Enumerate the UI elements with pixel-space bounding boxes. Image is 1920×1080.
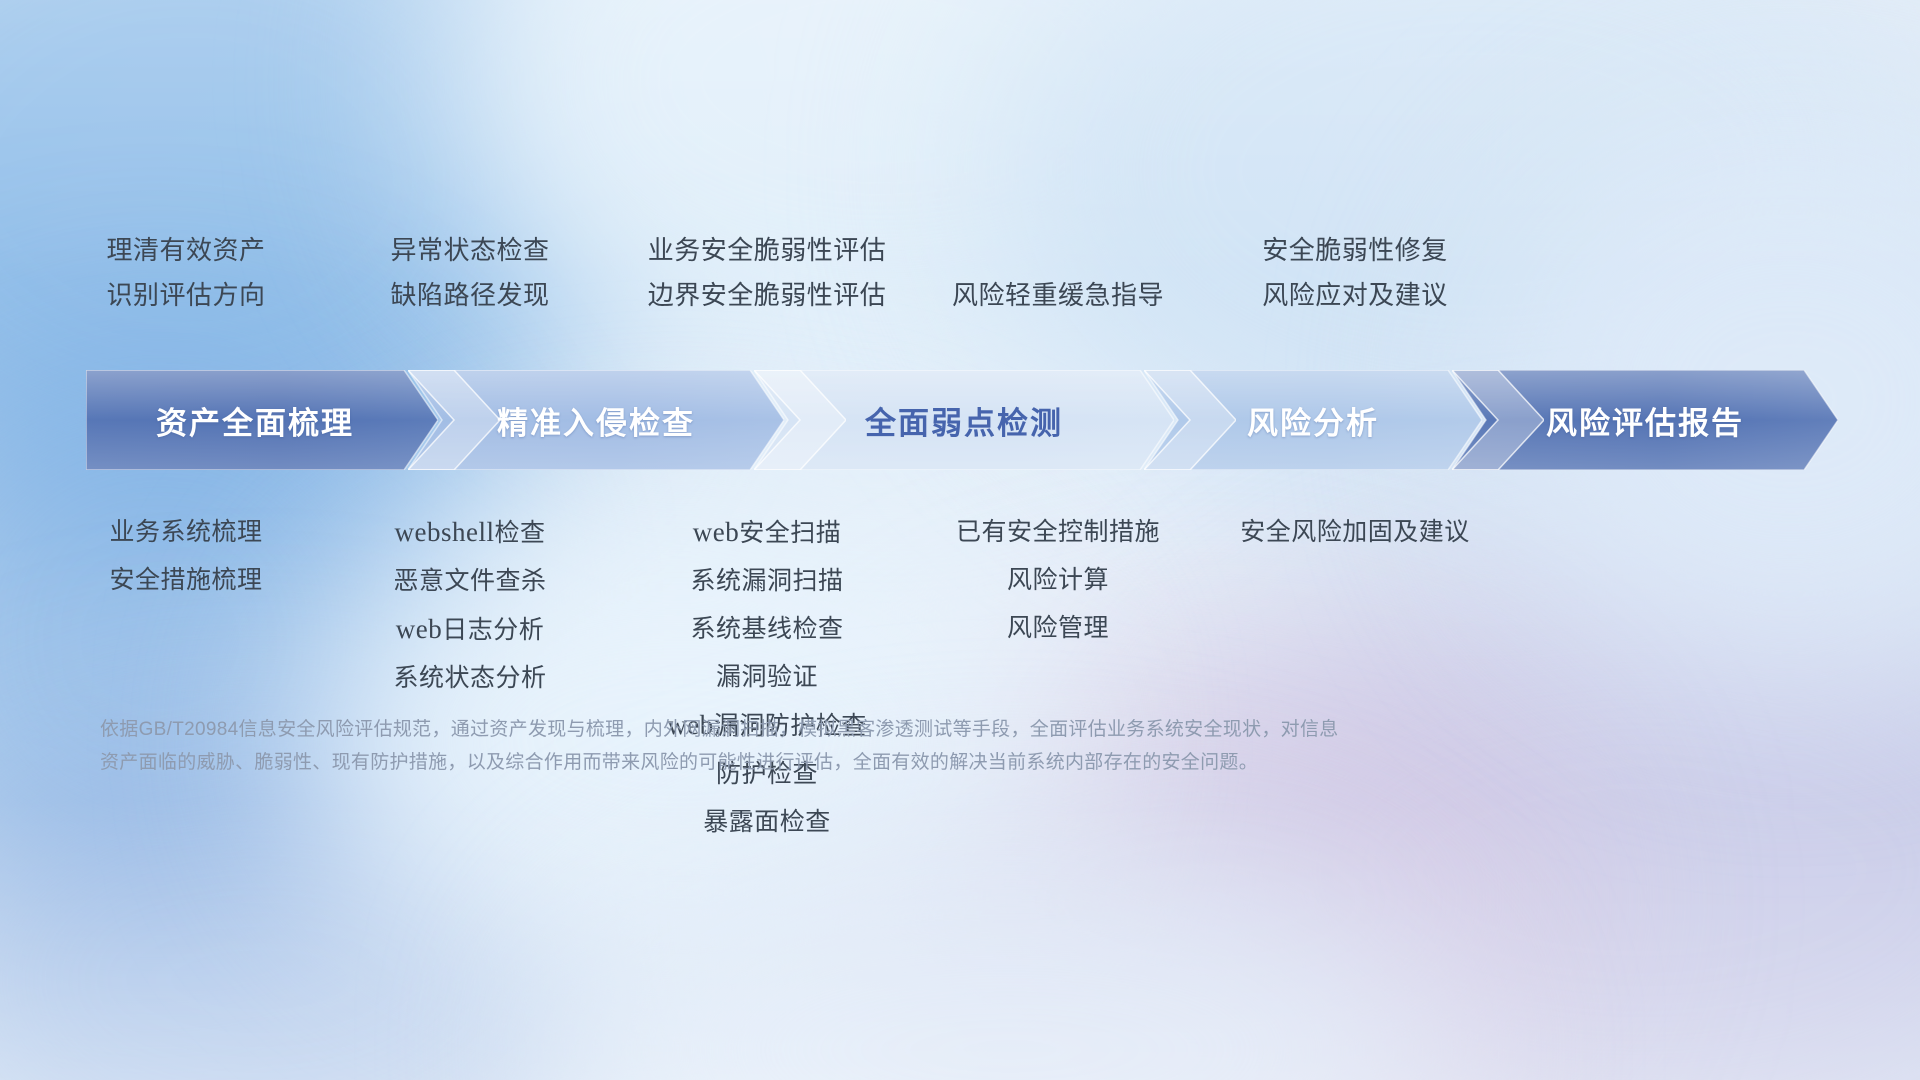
stage-bottom-text-risk-analysis: 已有安全控制措施风险计算风险管理	[888, 508, 1228, 652]
stage-text-line: web安全扫描	[597, 508, 937, 557]
stage-text-latin: web	[693, 517, 739, 547]
stage-text-cjk: 安全扫描	[739, 519, 841, 547]
process-arrow-band: 资产全面梳理精准入侵检查全面弱点检测风险分析风险评估报告	[86, 370, 1838, 470]
stage-text-line: 暴露面检查	[597, 798, 937, 846]
process-stage-label: 风险评估报告	[1546, 398, 1744, 443]
process-stage-asset-inventory[interactable]: 资产全面梳理	[86, 370, 438, 470]
footer-line-1: 依据GB/T20984信息安全风险评估规范，通过资产发现与梳理，内外网漏洞扫描，…	[100, 713, 1620, 746]
stage-text-line: 业务安全脆弱性评估	[597, 228, 937, 273]
process-stage-label: 风险分析	[1247, 398, 1379, 443]
stage-text-line: 异常状态检查	[300, 228, 640, 273]
stage-text-line: 恶意文件查杀	[300, 557, 640, 605]
process-stage-label: 精准入侵检查	[497, 398, 695, 443]
stage-top-text-risk-report: 安全脆弱性修复风险应对及建议	[1185, 228, 1525, 318]
stage-text-line: 安全脆弱性修复	[1185, 228, 1525, 273]
stage-top-text-intrusion-check: 异常状态检查缺陷路径发现	[300, 228, 640, 318]
stage-bottom-text-intrusion-check: webshell检查恶意文件查杀web日志分析系统状态分析	[300, 508, 640, 702]
stage-bottom-text-weakness-detection: web安全扫描系统漏洞扫描系统基线检查漏洞验证web漏洞防护检查防护检查暴露面检…	[597, 508, 937, 846]
stage-text-latin: web	[396, 614, 442, 644]
stage-text-line: webshell检查	[300, 508, 640, 557]
stage-text-line: 系统漏洞扫描	[597, 557, 937, 605]
process-stage-label: 全面弱点检测	[865, 398, 1063, 443]
stage-text-cjk: 日志分析	[442, 616, 544, 644]
stage-text-line: 风险轻重缓急指导	[888, 273, 1228, 318]
stage-text-line: 系统基线检查	[597, 605, 937, 653]
stage-text-line: web日志分析	[300, 605, 640, 654]
stage-text-latin: webshell	[395, 517, 495, 547]
stage-text-cjk: 检查	[494, 519, 545, 547]
stage-text-line: 缺陷路径发现	[300, 273, 640, 318]
stage-text-line: 边界安全脆弱性评估	[597, 273, 937, 318]
process-diagram: 理清有效资产识别评估方向 异常状态检查缺陷路径发现 业务安全脆弱性评估边界安全脆…	[0, 0, 1920, 1080]
stage-text-line: 已有安全控制措施	[888, 508, 1228, 556]
process-stage-weakness-detection[interactable]: 全面弱点检测	[754, 370, 1174, 470]
stage-text-line: 漏洞验证	[597, 653, 937, 701]
process-stage-label: 资产全面梳理	[156, 398, 354, 443]
process-stage-risk-analysis[interactable]: 风险分析	[1144, 370, 1482, 470]
process-stage-intrusion-check[interactable]: 精准入侵检查	[408, 370, 784, 470]
process-stage-risk-report[interactable]: 风险评估报告	[1452, 370, 1838, 470]
stage-text-line: 风险计算	[888, 556, 1228, 604]
stage-top-text-risk-analysis: 风险轻重缓急指导	[888, 273, 1228, 318]
stage-text-line: 风险应对及建议	[1185, 273, 1525, 318]
stage-bottom-text-risk-report: 安全风险加固及建议	[1185, 508, 1525, 556]
footer-line-2: 资产面临的威胁、脆弱性、现有防护措施，以及综合作用而带来风险的可能性进行评估，全…	[100, 746, 1620, 779]
stage-text-line: 风险管理	[888, 604, 1228, 652]
stage-top-text-weakness-detection: 业务安全脆弱性评估边界安全脆弱性评估	[597, 228, 937, 318]
stage-text-line: 系统状态分析	[300, 654, 640, 702]
stage-text-line: 安全风险加固及建议	[1185, 508, 1525, 556]
footer-description: 依据GB/T20984信息安全风险评估规范，通过资产发现与梳理，内外网漏洞扫描，…	[100, 713, 1620, 779]
